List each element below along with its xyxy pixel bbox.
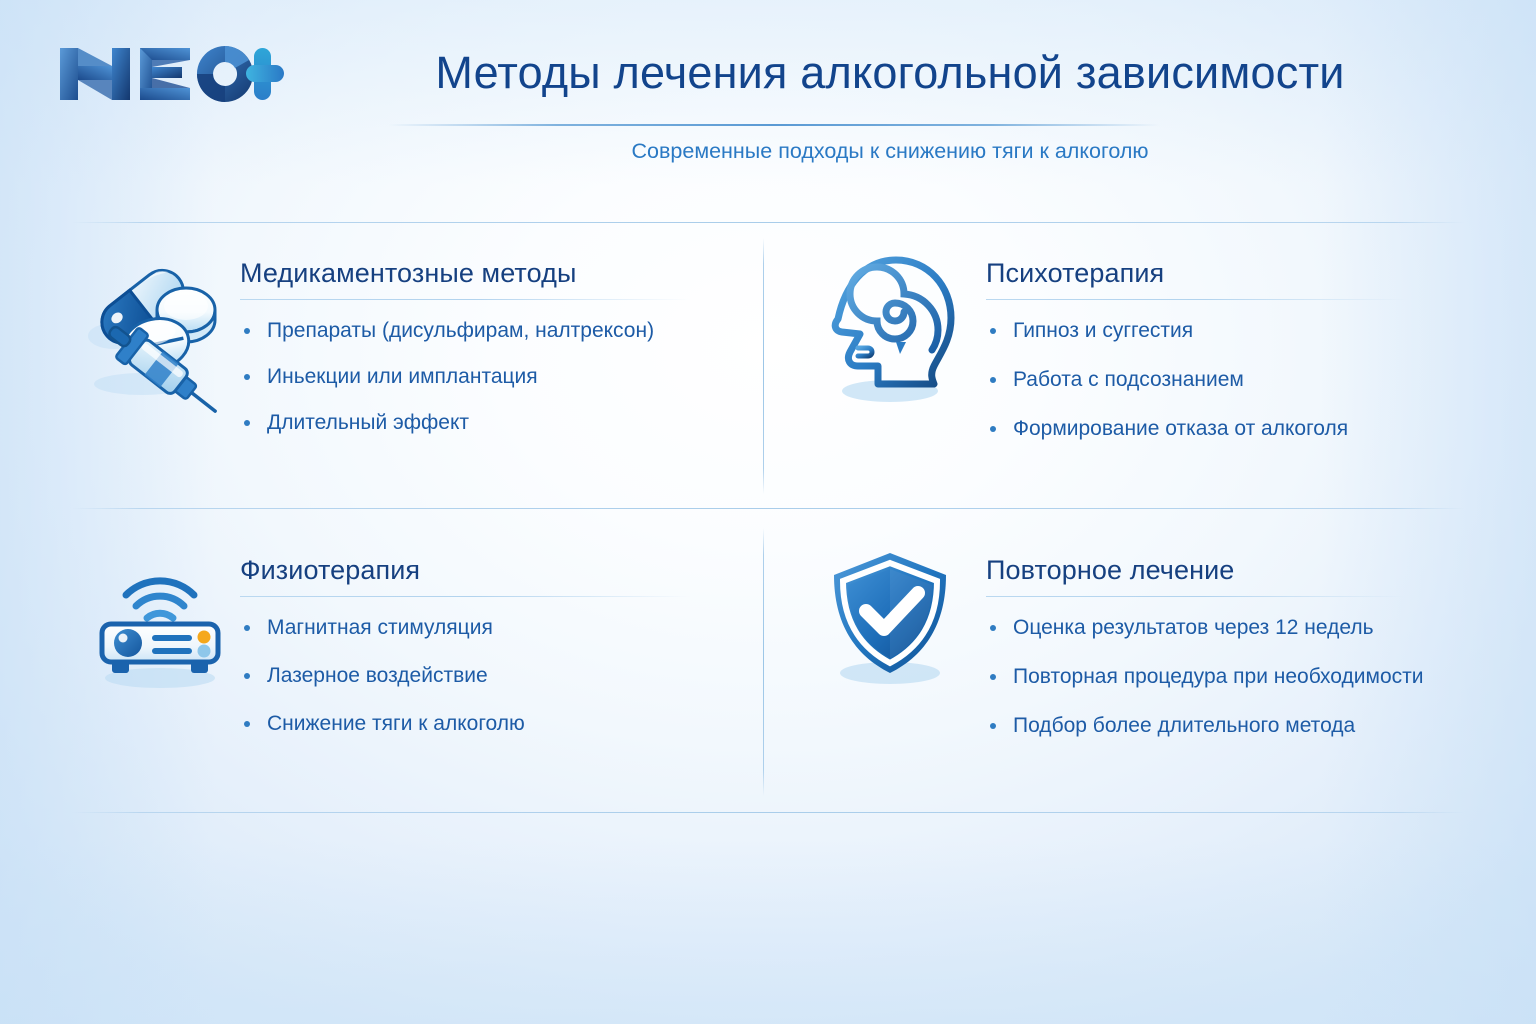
list-item-label: Магнитная стимуляция bbox=[267, 616, 493, 639]
bullet-dot-icon bbox=[990, 723, 996, 729]
list-item-label: Иньекции или имплантация bbox=[267, 365, 538, 388]
page-title: Методы лечения алкогольной зависимости bbox=[300, 44, 1480, 102]
list-item-label: Снижение тяги к алкоголю bbox=[267, 712, 525, 735]
head-spiral-icon bbox=[818, 248, 978, 413]
poster-header: Методы лечения алкогольной зависимости С… bbox=[0, 0, 1536, 190]
bullet-dot-icon bbox=[990, 674, 996, 680]
infographic-poster: Методы лечения алкогольной зависимости С… bbox=[0, 0, 1536, 1024]
bullet-dot-icon bbox=[244, 721, 250, 727]
list-item: Иньекции или имплантация bbox=[240, 364, 752, 390]
bullet-list-repeat-treatment: Оценка результатов через 12 недель Повто… bbox=[986, 597, 1470, 739]
title-divider bbox=[388, 124, 1160, 126]
bullet-dot-icon bbox=[990, 625, 996, 631]
list-item: Оценка результатов через 12 недель bbox=[986, 615, 1470, 641]
card-title-repeat-treatment: Повторное лечение bbox=[986, 553, 1470, 587]
list-item-label: Гипноз и суггестия bbox=[1013, 319, 1193, 342]
list-item: Препараты (дисульфирам, налтрексон) bbox=[240, 318, 752, 344]
card-title-physiotherapy: Физиотерапия bbox=[240, 553, 752, 587]
grid-divider-top bbox=[72, 222, 1464, 223]
card-physiotherapy: Физиотерапия Магнитная стимуляция Лазерн… bbox=[80, 545, 752, 759]
bullet-dot-icon bbox=[244, 625, 250, 631]
list-item: Магнитная стимуляция bbox=[240, 615, 752, 641]
card-body-physiotherapy: Физиотерапия Магнитная стимуляция Лазерн… bbox=[240, 545, 752, 759]
card-body-psychotherapy: Психотерапия Гипноз и суггестия Работа с… bbox=[978, 248, 1470, 465]
list-item-label: Длительный эффект bbox=[267, 411, 469, 434]
list-item: Снижение тяги к алкоголю bbox=[240, 711, 752, 737]
bullet-list-physiotherapy: Магнитная стимуляция Лазерное воздействи… bbox=[240, 597, 752, 737]
bullet-dot-icon bbox=[990, 377, 996, 383]
wave-device-icon bbox=[80, 545, 240, 695]
shield-check-icon bbox=[818, 545, 978, 695]
list-item: Работа с подсознанием bbox=[986, 367, 1470, 393]
bullet-dot-icon bbox=[990, 328, 996, 334]
grid-divider-vertical-bottom bbox=[763, 528, 764, 796]
bullet-dot-icon bbox=[244, 673, 250, 679]
neo-plus-logo bbox=[56, 38, 288, 110]
list-item-label: Лазерное воздействие bbox=[267, 664, 488, 687]
bullet-dot-icon bbox=[990, 426, 996, 432]
list-item-label: Подбор более длительного метода bbox=[1013, 714, 1355, 737]
page-subtitle: Современные подходы к снижению тяги к ал… bbox=[300, 136, 1480, 166]
list-item: Длительный эффект bbox=[240, 410, 752, 436]
list-item-label: Препараты (дисульфирам, налтрексон) bbox=[267, 319, 654, 342]
bullet-dot-icon bbox=[244, 420, 250, 426]
list-item-label: Повторная процедура при необходимости bbox=[1013, 665, 1423, 688]
list-item-label: Оценка результатов через 12 недель bbox=[1013, 616, 1374, 639]
grid-divider-middle bbox=[72, 508, 1464, 509]
bullet-list-medication: Препараты (дисульфирам, налтрексон) Инье… bbox=[240, 300, 752, 436]
pills-syringe-icon bbox=[80, 248, 240, 413]
list-item: Лазерное воздействие bbox=[240, 663, 752, 689]
list-item: Подбор более длительного метода bbox=[986, 713, 1470, 739]
card-title-psychotherapy: Психотерапия bbox=[986, 256, 1470, 290]
card-body-repeat-treatment: Повторное лечение Оценка результатов чер… bbox=[978, 545, 1470, 762]
bullet-list-psychotherapy: Гипноз и суггестия Работа с подсознанием… bbox=[986, 300, 1470, 442]
card-body-medication: Медикаментозные методы Препараты (дисуль… bbox=[240, 248, 752, 436]
list-item: Формирование отказа от алкоголя bbox=[986, 416, 1470, 442]
card-psychotherapy: Психотерапия Гипноз и суггестия Работа с… bbox=[818, 248, 1470, 465]
bullet-dot-icon bbox=[244, 328, 250, 334]
card-title-medication: Медикаментозные методы bbox=[240, 256, 752, 290]
grid-divider-bottom bbox=[72, 812, 1464, 813]
card-repeat-treatment: Повторное лечение Оценка результатов чер… bbox=[818, 545, 1470, 762]
grid-divider-vertical-top bbox=[763, 238, 764, 494]
bullet-dot-icon bbox=[244, 374, 250, 380]
list-item: Гипноз и суггестия bbox=[986, 318, 1470, 344]
list-item-label: Формирование отказа от алкоголя bbox=[1013, 417, 1348, 440]
list-item-label: Работа с подсознанием bbox=[1013, 368, 1244, 391]
list-item: Повторная процедура при необходимости bbox=[986, 664, 1470, 690]
card-medication: Медикаментозные методы Препараты (дисуль… bbox=[80, 248, 752, 436]
